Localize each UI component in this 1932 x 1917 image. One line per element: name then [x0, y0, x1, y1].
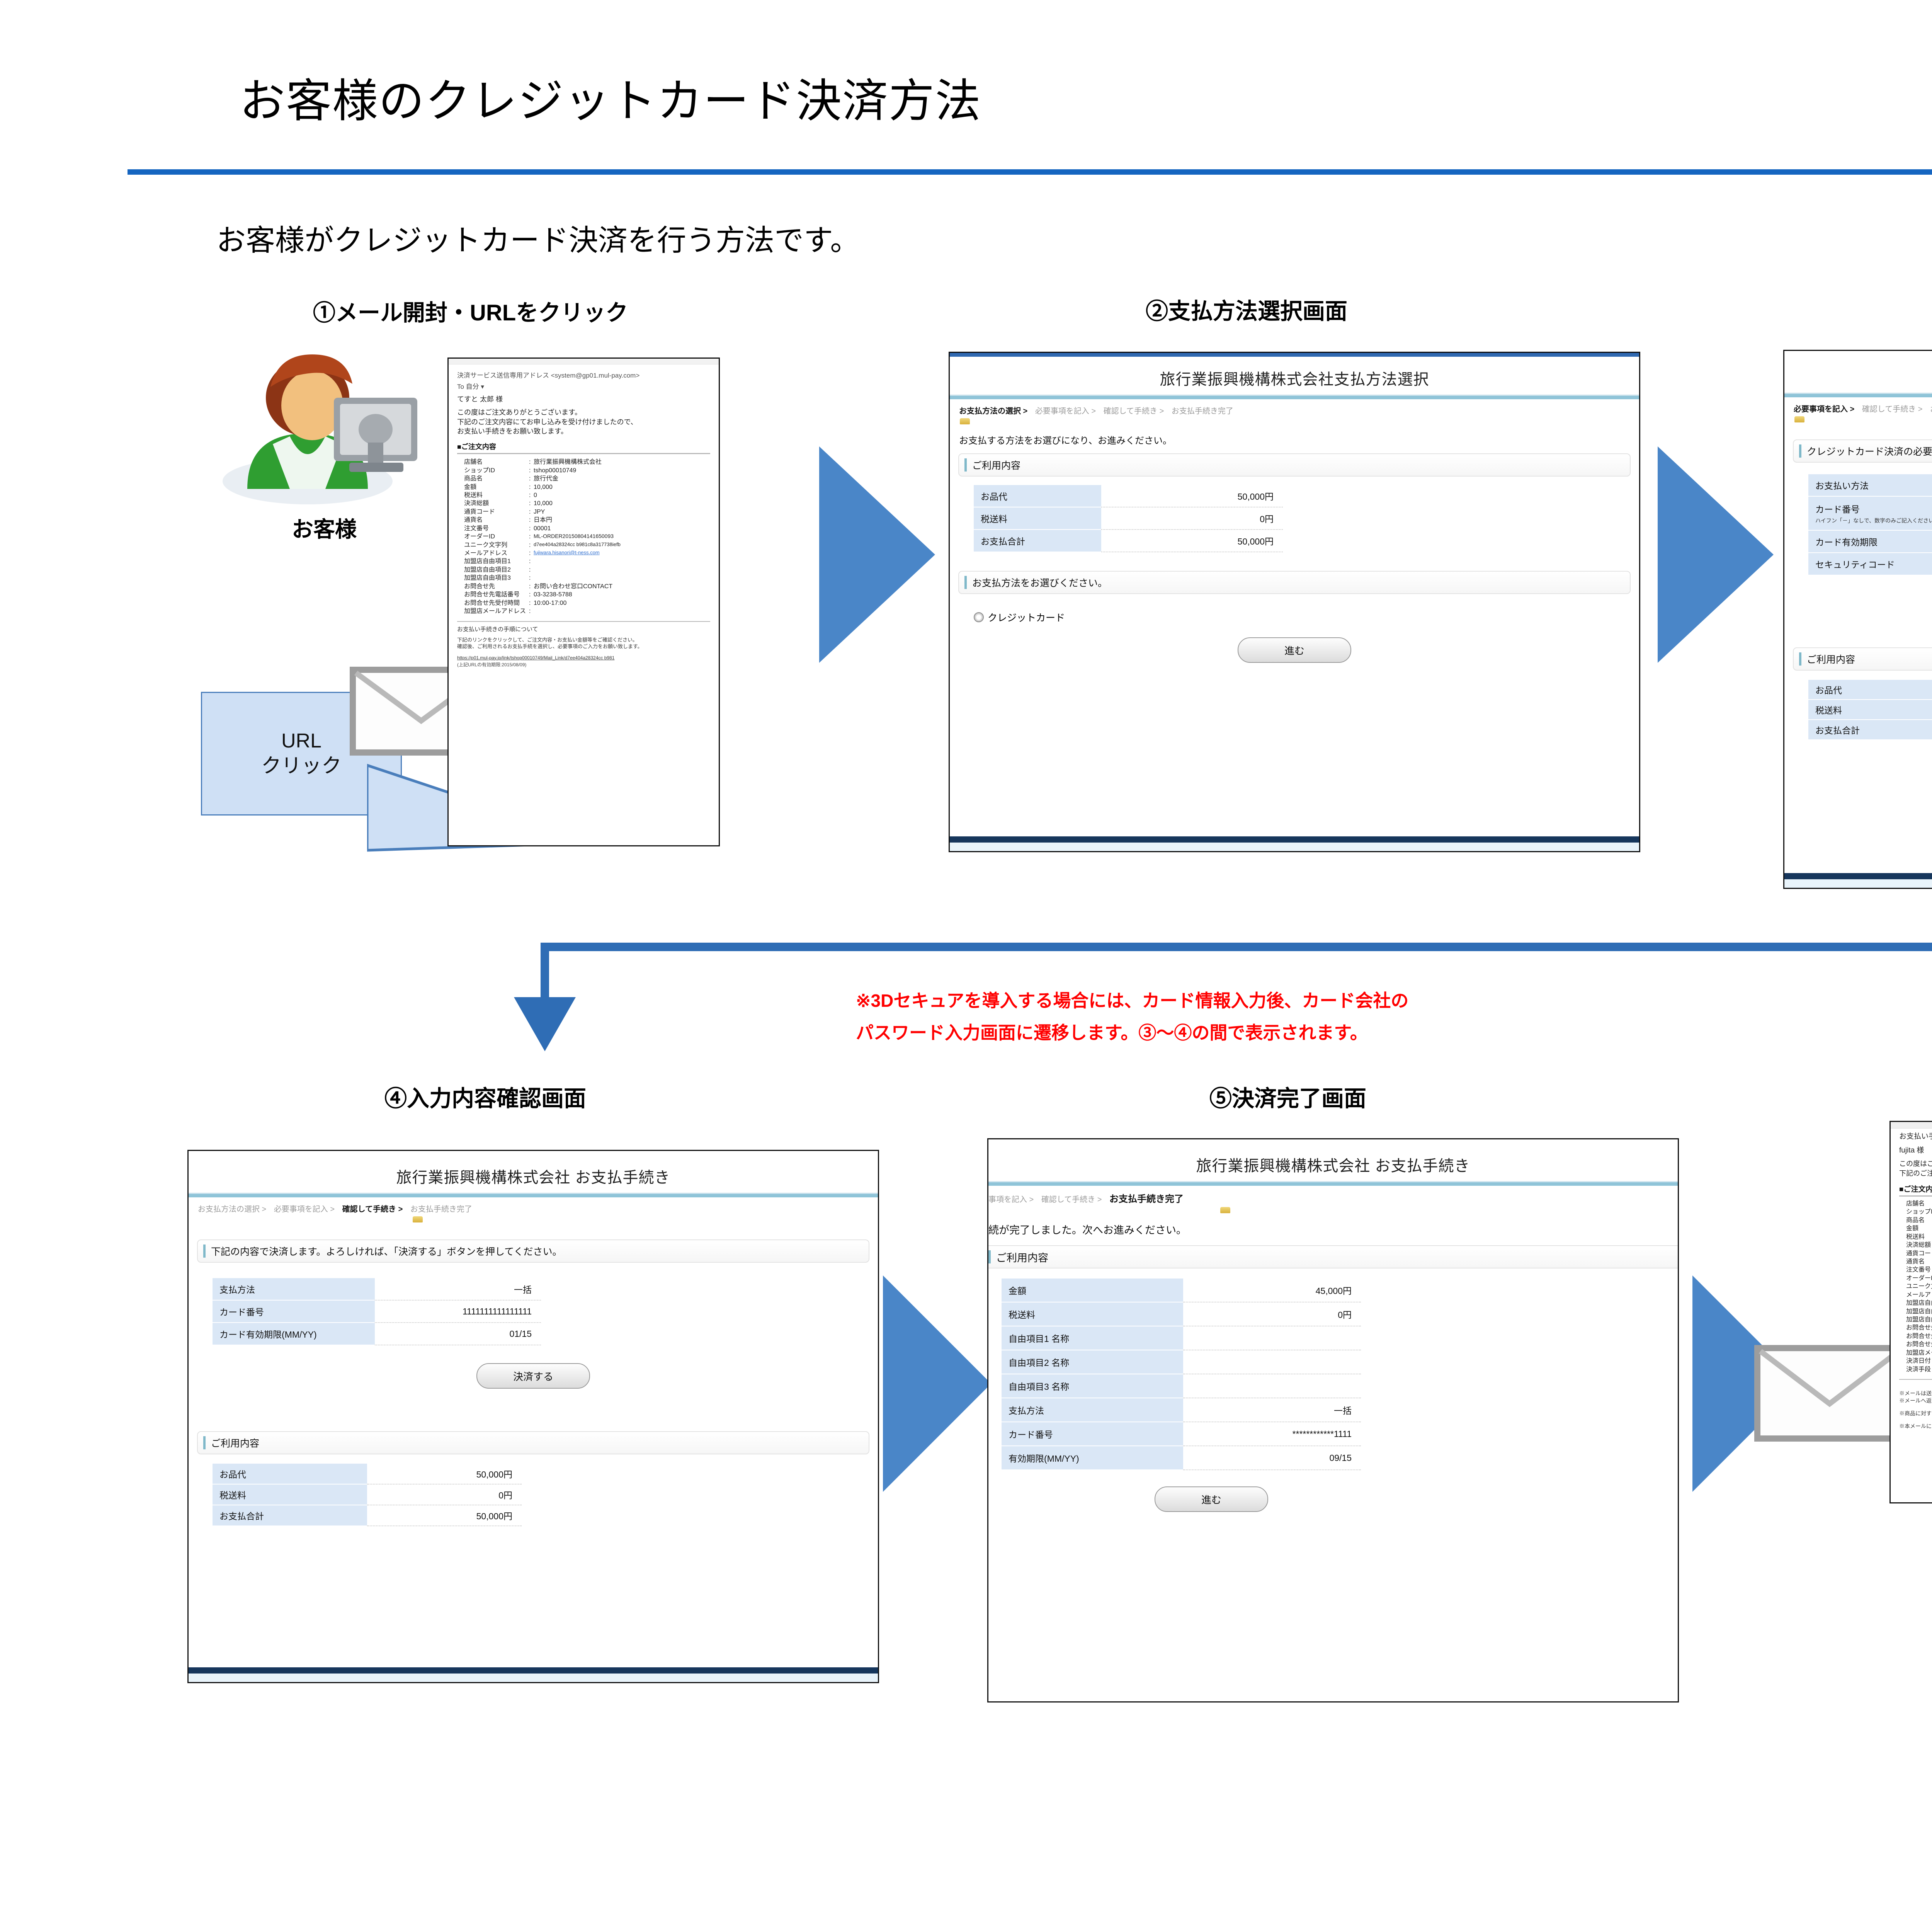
order-mail-field: 通貨名:日本円 [449, 516, 719, 524]
step-caption-5: ⑤決済完了画面 [1209, 1080, 1366, 1113]
complete-mail-footer-4: ※本メールにお心当たりがない場合、破棄願います。 [1891, 1417, 1932, 1430]
order-mail-greeting: てすと 太郎 様 [449, 391, 719, 404]
flow-arrow-2-to-3 [1658, 446, 1774, 663]
breadcrumb-item[interactable]: 必要事項を記入 > [274, 1205, 335, 1214]
order-mail-address-link[interactable]: fujiwara.hisanori@t-ness.com [534, 549, 719, 557]
page-subtitle: お客様がクレジットカード決済を行う方法です。 [216, 216, 859, 259]
window-accent-rule [988, 1182, 1678, 1186]
order-mail-field: 金額:10,000 [449, 483, 719, 491]
table-row: 自由項目1 名称 [1002, 1326, 1678, 1350]
table-row: 税送料0円 [213, 1485, 878, 1505]
note-3ds-line-2: パスワード入力画面に遷移します。③～④の間で表示されます。 [856, 1020, 1368, 1046]
usage-table: お品代50,000円 税送料0円 お支払合計50,000円 [1808, 680, 1932, 740]
complete-mail-field-list: 店舗名:旅行業振興機構株式会社 ショップID:tshop00014995 商品名… [1891, 1197, 1932, 1374]
note-3ds-line-1: ※3Dセキュアを導入する場合には、カード情報入力後、カード会社の [856, 987, 1408, 1014]
callout-line-2: クリック [261, 754, 342, 779]
complete-mail-field: 商品名:航空券 [1891, 1216, 1932, 1224]
table-row: 自由項目3 名称 [1002, 1374, 1678, 1398]
complete-mail-field: 決済日付:2015/04/09 16:58:23 [1891, 1357, 1932, 1365]
breadcrumb-item[interactable]: お支払手続き完了 [1109, 1194, 1184, 1204]
table-row: お支払い方法 選択してください▼ [1808, 474, 1932, 497]
complete-mail-field: メールアドレス:fujita.minobu@t-ness.com [1891, 1291, 1932, 1299]
credit-card-radio-row[interactable]: クレジットカード [974, 610, 1639, 624]
breadcrumb-item[interactable]: 確認して手続き > [1041, 1195, 1102, 1204]
order-mail-footer-2: 下記のリンクをクリックして、ご注文内容・お支払い金額等をご確認ください。 [449, 633, 719, 644]
breadcrumb-item[interactable]: お支払手続き完了 [410, 1205, 472, 1214]
confirm-breadcrumb: お支払方法の選択 > 必要事項を記入 > 確認して手続き > お支払手続き完了 [189, 1197, 878, 1216]
table-row: カード有効期限 01▼ 月 15▼ 年 [1808, 531, 1932, 553]
order-mail-field: ユニーク文字列:d7ee404a28324cc b981c8a317738ief… [449, 541, 719, 549]
table-row: 税送料0円 [1002, 1302, 1678, 1326]
order-mail-body-1: この度はご注文ありがとうございます。 [449, 404, 719, 417]
complete-mail-body-1: この度はご購入ありがとうございます。 [1891, 1155, 1932, 1168]
next-button[interactable]: 進む [1155, 1486, 1268, 1512]
pay-method-breadcrumb: お支払方法の選択 > 必要事項を記入 > 確認して手続き > お支払手続き完了 [950, 399, 1639, 417]
order-mail-field: 加盟店自由項目2: [449, 566, 719, 574]
radio-label: クレジットカード [988, 610, 1065, 624]
order-mail-section: ■ご注文内容 [449, 436, 719, 452]
flow-arrow-4-to-5 [883, 1275, 991, 1492]
confirm-table: 支払方法一括 カード番号1111111111111111 カード有効期限(MM/… [213, 1278, 878, 1345]
table-row: お支払合計50,000円 [1808, 720, 1932, 740]
usage-section-header: ご利用内容 [197, 1431, 869, 1454]
table-row: カード番号1111111111111111 [213, 1301, 878, 1323]
complete-mail-greeting: fujita 様 [1891, 1142, 1932, 1156]
envelope-icon-right [1754, 1345, 1905, 1442]
table-row: カード番号 ハイフン「－」なしで、数字のみご記入ください [1808, 497, 1932, 531]
order-mail-field: 決済総額:10,000 [449, 499, 719, 507]
breadcrumb-item[interactable]: お支払方法の選択 > [959, 407, 1027, 415]
breadcrumb-item[interactable]: お支払方法の選択 > [198, 1205, 266, 1214]
flow-arrow-1-to-2 [819, 446, 935, 663]
breadcrumb-item[interactable]: 確認して手続き > [1104, 407, 1164, 415]
step-caption-2: ②支払方法選択画面 [1146, 293, 1347, 325]
order-mail-field-list: 店舗名:旅行業振興機構株式会社 ショップID:tshop00010749 商品名… [449, 454, 719, 615]
order-mail-field: メールアドレス:fujiwara.hisanori@t-ness.com [449, 549, 719, 557]
table-row: 有効期限(MM/YY)09/15 [1002, 1446, 1678, 1470]
table-row: 税送料0円 [974, 507, 1639, 530]
window-footer [950, 836, 1639, 851]
table-row: カード有効期限(MM/YY)01/15 [213, 1323, 878, 1345]
breadcrumb-item[interactable]: 確認して手続き > [342, 1205, 403, 1214]
callout-line-1: URL [281, 729, 321, 754]
breadcrumb-item[interactable]: 事項を記入 > [988, 1195, 1034, 1204]
order-mail-field: 加盟店メールアドレス: [449, 607, 719, 615]
complete-mail-footer-2: ※メールへ返信頂いても回答致しかねますのでご了承下さい。 [1891, 1397, 1932, 1405]
card-input-window: 旅行業振興機構株式会社 お支払手続き 必要事項を記入 > 確認して手続き > お… [1783, 350, 1932, 889]
table-row: 自由項目2 名称 [1002, 1350, 1678, 1374]
breadcrumb-pointer-icon [413, 1216, 423, 1222]
usage-table: お品代50,000円 税送料0円 お支払合計50,000円 [213, 1464, 878, 1526]
order-mail-field: お問合せ先:お問い合わせ窓口CONTACT [449, 582, 719, 591]
order-mail-from: 決済サービス送信専用アドレス <system@gp01.mul-pay.com> [449, 364, 719, 380]
complete-lead: 続が完了しました。次へお進みください。 [988, 1213, 1678, 1239]
card-input-title: 旅行業振興機構株式会社 お支払手続き [1784, 351, 1932, 393]
table-row: お品代50,000円 [1808, 680, 1932, 700]
order-mail-body-2: 下記のご注文内容にてお申し込みを受け付けましたので、 [449, 417, 719, 427]
breadcrumb-item[interactable]: お支払手続き完了 [1172, 407, 1233, 415]
order-mail-field: 税送料:0 [449, 491, 719, 499]
order-mail-body-3: お支払い手続きをお願い致します。 [449, 427, 719, 436]
complete-mail-field: 店舗名:旅行業振興機構株式会社 [1891, 1200, 1932, 1208]
breadcrumb-pointer-icon [960, 418, 970, 424]
window-accent-rule [189, 1194, 878, 1197]
order-mail-field: 通貨コード:JPY [449, 508, 719, 516]
complete-mail-body-2: 下記のご注文内容のお支払い手続きが完了しました。 [1891, 1169, 1932, 1178]
usage-table: お品代50,000円 税送料0円 お支払合計50,000円 [974, 485, 1639, 552]
order-mail-footer-1: お支払い手続きの手順について [449, 622, 719, 633]
radio-icon[interactable] [974, 612, 984, 622]
table-row: お支払合計50,000円 [213, 1505, 878, 1526]
table-row: カード番号************1111 [1002, 1422, 1678, 1446]
table-row: お品代50,000円 [974, 485, 1639, 507]
order-mail-field: ショップID:tshop00010749 [449, 466, 719, 475]
complete-mail-field: 加盟店自由項目3: [1891, 1316, 1932, 1324]
page-title: お客様のクレジットカード決済方法 [240, 64, 981, 130]
complete-mail-field: ユニーク文字列:0abc80Sea7a11377e95 1dd6ab6c1453 [1891, 1282, 1932, 1290]
complete-mail-footer-3: ※商品に対するお問合せは恐れ入りますがご購入された店舗までご連絡ください。 [1891, 1405, 1932, 1417]
complete-mail-field: 加盟店メールアドレス:fujita.minobu@tasa.co.jp [1891, 1349, 1932, 1357]
complete-mail-field: オーダーID:ML-ORDER201504091658239g [1891, 1274, 1932, 1282]
table-row: お支払合計50,000円 [974, 530, 1639, 552]
order-mail-url-link[interactable]: https://p01.mul-pay.jp/link/tshop0001074… [449, 650, 719, 661]
usage-section-header: ご利用内容 [988, 1245, 1678, 1268]
complete-mail-field: 注文番号:test0409 [1891, 1266, 1932, 1274]
confirm-window: 旅行業振興機構株式会社 お支払手続き お支払方法の選択 > 必要事項を記入 > … [187, 1150, 879, 1683]
complete-mail-field: 税送料:0 [1891, 1233, 1932, 1241]
table-row: 支払方法一括 [213, 1278, 878, 1301]
breadcrumb-item[interactable]: 必要事項を記入 > [1794, 405, 1854, 414]
order-mail-field: 加盟店自由項目1: [449, 557, 719, 565]
usage-section-header: ご利用内容 [1793, 647, 1932, 671]
table-row: 支払方法一括 [1002, 1398, 1678, 1422]
window-footer [189, 1667, 878, 1682]
breadcrumb-item[interactable]: 確認して手続き > [1862, 405, 1923, 414]
method-section-header: お支払方法をお選びください。 [958, 571, 1631, 594]
complete-mail-section: ■ご注文内容 [1891, 1178, 1932, 1195]
next-button[interactable]: 進む [1238, 637, 1351, 663]
complete-mail-field: 加盟店自由項目1: [1891, 1299, 1932, 1307]
complete-mail-field: 通貨コード:JPY [1891, 1250, 1932, 1258]
complete-mail-field: お問合せ先受付時間:10:00-19:00 [1891, 1340, 1932, 1348]
pay-button[interactable]: 決済する [476, 1363, 590, 1389]
complete-mail-field: 金額:50,000 [1891, 1224, 1932, 1233]
order-mail-window: 決済サービス送信専用アドレス <system@gp01.mul-pay.com>… [447, 358, 720, 846]
order-mail-footer-3: 確認後、ご利用されるお支払手続を選択し、必要事項のご入力をお願い致します。 [449, 643, 719, 650]
order-mail-to: To 自分 ▾ [449, 380, 719, 391]
order-mail-field: お問合せ先受付時間:10:00-17:00 [449, 599, 719, 607]
required-section-header: クレジットカード決済の必要事項をご記入ください。 [1793, 439, 1932, 463]
customer-label-left: お客様 [292, 512, 357, 543]
table-row: セキュリティコード [1808, 553, 1932, 575]
complete-mail-footer-1: ※メールは送信専用アドレスより送信しております。 [1891, 1380, 1932, 1397]
complete-mail-window: お支払い手続き完了のお知らせ fujita 様 この度はご購入ありがとうございま… [1889, 1121, 1932, 1503]
complete-mail-field: お問合せ先電話番号:03-6434-0704 [1891, 1332, 1932, 1340]
breadcrumb-pointer-icon [1794, 416, 1804, 422]
table-row: お品代50,000円 [213, 1464, 878, 1485]
table-row: 金額45,000円 [1002, 1279, 1678, 1302]
order-mail-field: お問合せ先電話番号:03-3238-5788 [449, 591, 719, 599]
complete-mail-field: 加盟店自由項目2: [1891, 1308, 1932, 1316]
table-row: 税送料0円 [1808, 700, 1932, 720]
order-mail-field: 加盟店自由項目3: [449, 574, 719, 582]
window-accent-rule [1784, 394, 1932, 397]
title-divider [128, 169, 1932, 175]
order-mail-field: オーダーID:ML-ORDER20150804141650093 [449, 533, 719, 541]
complete-mail-field: ショップID:tshop00014995 [1891, 1208, 1932, 1216]
pay-method-window: 旅行業振興機構株式会社支払方法選択 お支払方法の選択 > 必要事項を記入 > 確… [949, 352, 1640, 852]
slide-canvas: お客様のクレジットカード決済方法 お客様がクレジットカード決済を行う方法です。 … [0, 0, 1932, 1917]
usage-section-header: ご利用内容 [958, 453, 1631, 477]
card-input-table: お支払い方法 選択してください▼ カード番号 ハイフン「－」なしで、数字のみご記… [1808, 474, 1932, 575]
complete-window: 旅行業振興機構株式会社 お支払手続き 事項を記入 > 確認して手続き > お支払… [987, 1138, 1679, 1702]
breadcrumb-item[interactable]: お支払手続き完了 [1930, 405, 1932, 414]
window-titlebar [950, 353, 1639, 357]
pay-method-lead: お支払する方法をお選びになり、お進みください。 [950, 424, 1639, 449]
card-number-hint: ハイフン「－」なしで、数字のみご記入ください [1815, 517, 1932, 524]
complete-breadcrumb: 事項を記入 > 確認して手続き > お支払手続き完了 [988, 1186, 1678, 1206]
complete-title: 旅行業振興機構株式会社 お支払手続き [988, 1139, 1678, 1181]
breadcrumb-pointer-icon [1220, 1207, 1230, 1213]
card-input-breadcrumb: 必要事項を記入 > 確認して手続き > お支払手続き完了 [1784, 397, 1932, 415]
order-mail-field: 注文番号:00001 [449, 524, 719, 533]
order-mail-field: 商品名:旅行代金 [449, 475, 719, 483]
step-caption-1: ①メール開封・URLをクリック [313, 295, 628, 327]
complete-mail-field: 通貨名:日本円 [1891, 1258, 1932, 1266]
order-mail-url-note: (上記URLの有効期限:2015/08/09) [449, 661, 719, 668]
order-mail-field: 店舗名:旅行業振興機構株式会社 [449, 458, 719, 466]
breadcrumb-item[interactable]: 必要事項を記入 > [1035, 407, 1096, 415]
step-caption-4: ④入力内容確認画面 [384, 1080, 586, 1113]
confirm-section-header: 下記の内容で決済します。よろしければ、「決済する」ボタンを押してください。 [197, 1239, 869, 1263]
pay-method-title: 旅行業振興機構株式会社支払方法選択 [950, 357, 1639, 395]
complete-mail-field: 決済総額:50,000 [1891, 1241, 1932, 1249]
complete-mail-subject: お支払い手続き完了のお知らせ [1891, 1129, 1932, 1142]
window-accent-rule [950, 396, 1639, 399]
complete-table: 金額45,000円 税送料0円 自由項目1 名称 自由項目2 名称 自由項目3 … [1002, 1279, 1678, 1470]
complete-mail-field: お問合せ先:旅行業振興機構 (TASA) [1891, 1324, 1932, 1332]
window-footer [1784, 873, 1932, 888]
confirm-title: 旅行業振興機構株式会社 お支払手続き [189, 1151, 878, 1193]
complete-mail-field: 決済手段:クレジット [1891, 1365, 1932, 1374]
